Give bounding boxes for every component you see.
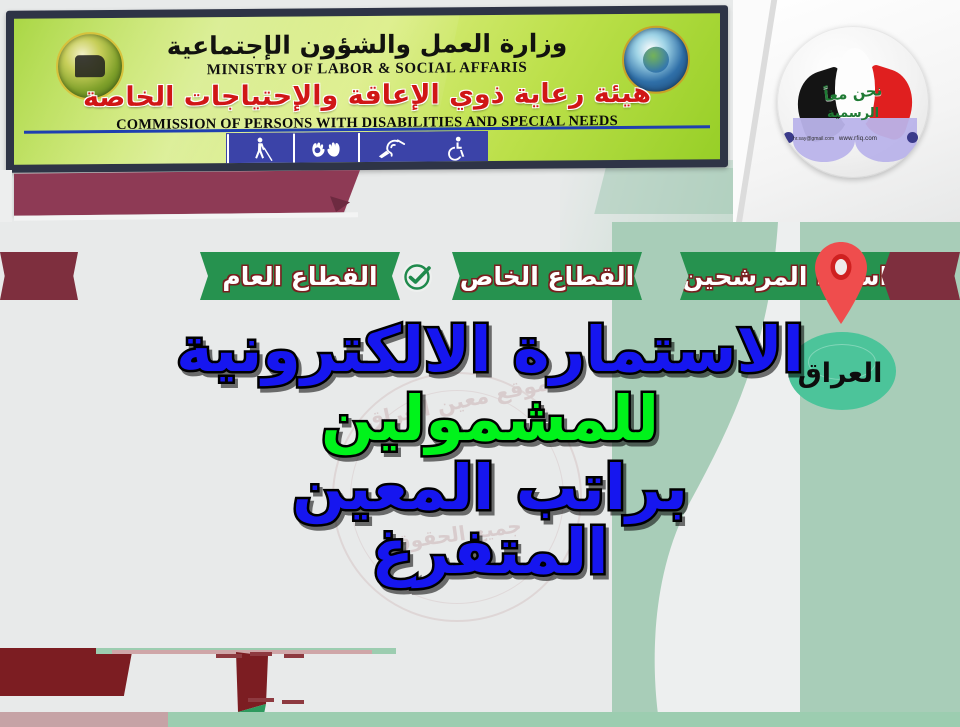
- decoration-dash: [250, 652, 272, 656]
- decoration-dash: [248, 698, 274, 702]
- banner-ministry-arabic: وزارة العمل والشؤون الإجتماعية: [14, 27, 720, 62]
- ribbon-left-notch: [0, 170, 12, 222]
- rfiq-circular-logo: نحن معاً الرسمية hr.say@gmail.com www.rf…: [777, 26, 929, 178]
- decoration-bottom-band-right: [520, 712, 960, 727]
- wheelchair-icon: [424, 132, 488, 164]
- nav-left-cap: [0, 252, 78, 300]
- page-title-line-1: الاستمارة الالكترونية: [170, 318, 810, 381]
- page-title-line-2: للمشمولين: [170, 387, 810, 450]
- page-title: الاستمارة الالكترونية للمشمولين براتب ال…: [170, 318, 810, 589]
- blind-cane-icon: [227, 134, 293, 165]
- nav-item-private-sector[interactable]: القطاع الخاص: [452, 252, 642, 300]
- poster-root: وزارة العمل والشؤون الإجتماعية MINISTRY …: [0, 0, 960, 727]
- nav-item-public-sector[interactable]: القطاع العام: [200, 252, 400, 300]
- ministry-banner: وزارة العمل والشؤون الإجتماعية MINISTRY …: [6, 5, 728, 173]
- decoration-dash: [282, 700, 304, 704]
- page-title-line-3: براتب المعين المتفرغ: [170, 456, 810, 582]
- sign-language-icon: [293, 133, 359, 165]
- decoration-dash: [216, 654, 242, 658]
- maroon-ribbon-bar: [14, 170, 344, 215]
- map-pin-icon: [812, 240, 870, 326]
- disability-icon-strip: [226, 131, 488, 165]
- hearing-impaired-icon: [358, 133, 424, 165]
- banner-commission-arabic: هيئة رعاية ذوي الإعاقة والإحتياجات الخاص…: [14, 77, 720, 114]
- decoration-dash: [284, 654, 304, 658]
- decoration-maroon-block: [0, 648, 118, 696]
- logo-email-text: hr.say@gmail.com: [793, 136, 834, 142]
- organization-logo-panel: نحن معاً الرسمية hr.say@gmail.com www.rf…: [733, 0, 960, 222]
- logo-badge-right-icon: [907, 132, 918, 143]
- logo-website-text: www.rfiq.com: [839, 136, 877, 142]
- ministry-banner-inner: وزارة العمل والشؤون الإجتماعية MINISTRY …: [14, 13, 720, 165]
- logo-arabic-bottom: الرسمية: [777, 106, 929, 121]
- circle-check-icon: [398, 258, 436, 296]
- decoration-bottom-band: [0, 712, 600, 727]
